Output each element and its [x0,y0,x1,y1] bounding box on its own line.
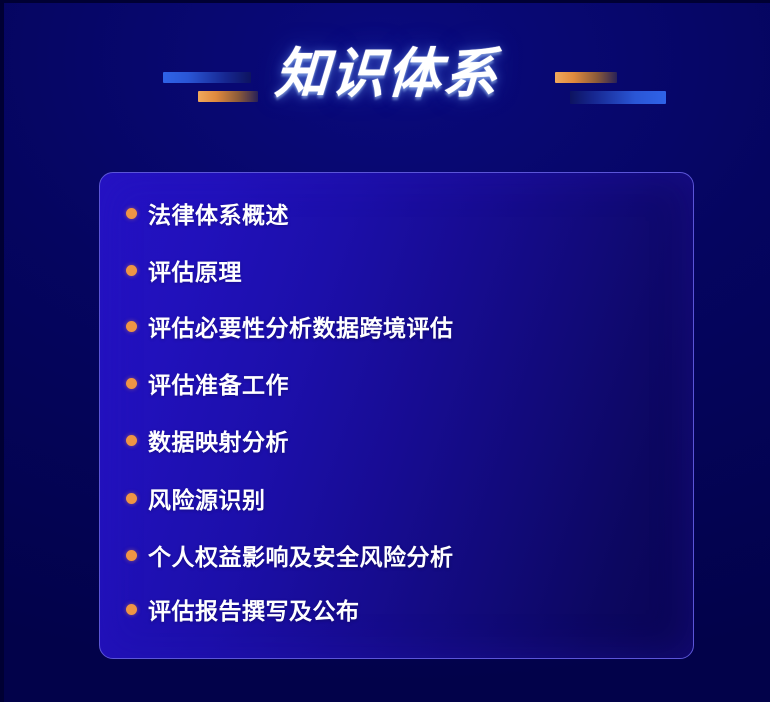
list-item-label: 风险源识别 [148,481,266,515]
list-item-label: 评估原理 [148,253,242,287]
slide-root: 知识体系 法律体系概述评估原理评估必要性分析数据跨境评估评估准备工作数据映射分析… [4,3,770,702]
list-item[interactable]: 数据映射分析 [126,425,289,455]
list-item[interactable]: 个人权益影响及安全风险分析 [126,540,454,570]
bullet-dot-icon [126,265,137,276]
list-item-label: 评估准备工作 [148,366,289,400]
list-item-label: 个人权益影响及安全风险分析 [148,538,454,572]
header: 知识体系 [4,3,770,153]
list-item[interactable]: 评估必要性分析数据跨境评估 [126,311,454,341]
bullet-dot-icon [126,378,137,389]
list-item-label: 法律体系概述 [148,196,289,230]
bullet-dot-icon [126,435,137,446]
bullet-dot-icon [126,321,137,332]
list-item[interactable]: 法律体系概述 [126,198,289,228]
list-item-label: 数据映射分析 [148,423,289,457]
right-blue-bar-icon [570,91,666,104]
bullet-dot-icon [126,550,137,561]
bullet-dot-icon [126,208,137,219]
list-item-label: 评估报告撰写及公布 [148,592,360,626]
list-item[interactable]: 评估准备工作 [126,368,289,398]
list-item[interactable]: 评估原理 [126,255,242,285]
right-orange-bar-icon [555,72,617,83]
list-item-label: 评估必要性分析数据跨境评估 [148,309,454,343]
knowledge-system-card: 法律体系概述评估原理评估必要性分析数据跨境评估评估准备工作数据映射分析风险源识别… [99,172,694,659]
list-item[interactable]: 评估报告撰写及公布 [126,594,360,624]
bullet-dot-icon [126,604,137,615]
topic-list: 法律体系概述评估原理评估必要性分析数据跨境评估评估准备工作数据映射分析风险源识别… [100,173,693,658]
bullet-dot-icon [126,493,137,504]
list-item[interactable]: 风险源识别 [126,483,266,513]
